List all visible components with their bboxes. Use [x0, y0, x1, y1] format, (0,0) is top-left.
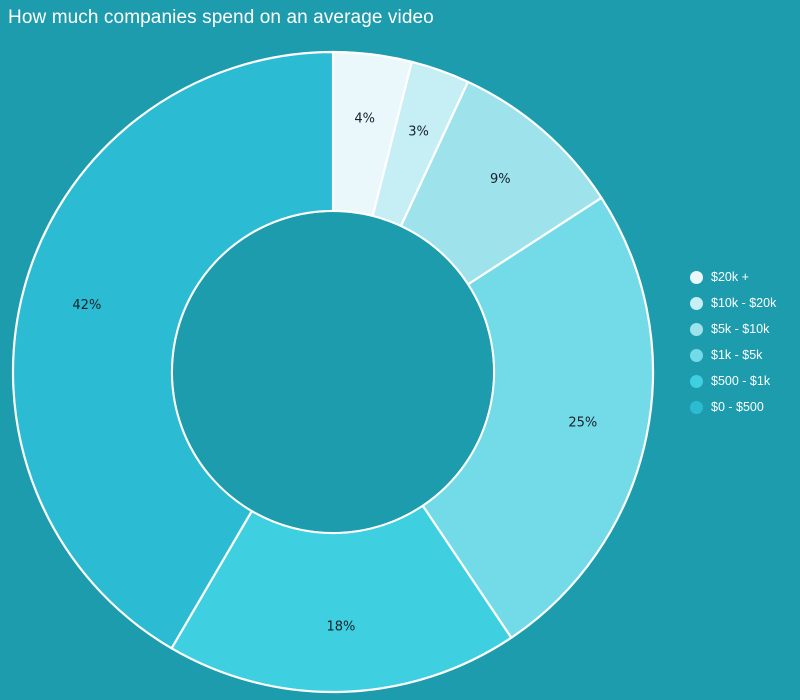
- legend-item-label: $1k - $5k: [711, 349, 762, 362]
- legend-swatch-icon: [690, 375, 703, 388]
- legend-item-label: $5k - $10k: [711, 323, 769, 336]
- legend-item-label: $20k +: [711, 271, 749, 284]
- legend-swatch-icon: [690, 323, 703, 336]
- chart-container: How much companies spend on an average v…: [0, 0, 800, 700]
- donut-hole: [173, 212, 493, 532]
- legend-swatch-icon: [690, 271, 703, 284]
- slice-value-label: 4%: [354, 111, 375, 126]
- donut-slices: [13, 52, 653, 692]
- legend-item-label: $500 - $1k: [711, 375, 770, 388]
- legend-swatch-icon: [690, 349, 703, 362]
- slice-value-label: 9%: [490, 172, 511, 187]
- slice-value-label: 25%: [568, 416, 597, 431]
- slice-value-label: 18%: [326, 619, 355, 634]
- slice-value-label: 3%: [408, 124, 429, 139]
- legend-item[interactable]: $5k - $10k: [690, 316, 798, 342]
- legend-item[interactable]: $1k - $5k: [690, 342, 798, 368]
- legend-item[interactable]: $0 - $500: [690, 394, 798, 420]
- legend-item[interactable]: $10k - $20k: [690, 290, 798, 316]
- legend-item[interactable]: $500 - $1k: [690, 368, 798, 394]
- donut-chart: 4%3%9%25%18%42%: [0, 0, 800, 700]
- legend-item-label: $0 - $500: [711, 401, 764, 414]
- legend-swatch-icon: [690, 297, 703, 310]
- legend-swatch-icon: [690, 401, 703, 414]
- legend-item[interactable]: $20k +: [690, 264, 798, 290]
- chart-legend: $20k +$10k - $20k$5k - $10k$1k - $5k$500…: [690, 264, 798, 420]
- legend-item-label: $10k - $20k: [711, 297, 776, 310]
- slice-value-label: 42%: [72, 298, 101, 313]
